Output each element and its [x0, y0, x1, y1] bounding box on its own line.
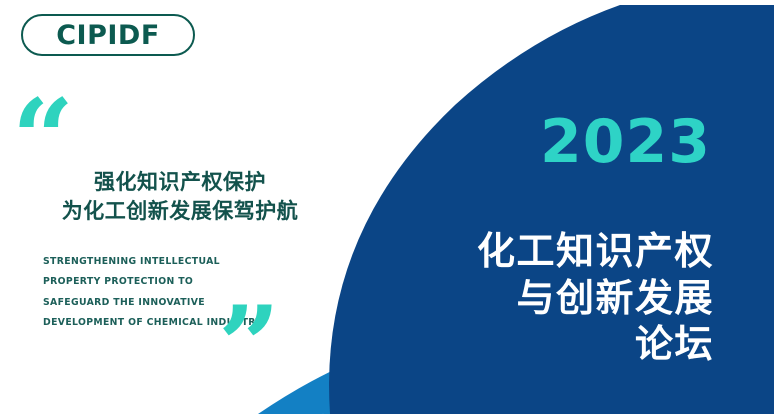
forum-banner: CIPIDF “ 强化知识产权保护 为化工创新发展保驾护航 STRENGTHEN… [0, 0, 779, 419]
forum-title-line-3: 论坛 [477, 321, 714, 368]
year-label: 2023 [540, 112, 711, 172]
quote-close-icon: ” [218, 292, 276, 400]
left-content-block: “ 强化知识产权保护 为化工创新发展保驾护航 STRENGTHENING INT… [0, 0, 360, 419]
headline-chinese: 强化知识产权保护 为化工创新发展保驾护航 [30, 168, 330, 226]
forum-title-line-1: 化工知识产权 [477, 228, 714, 275]
forum-title-line-2: 与创新发展 [477, 275, 714, 322]
headline-chinese-line-1: 强化知识产权保护 [30, 168, 330, 197]
headline-chinese-line-2: 为化工创新发展保驾护航 [30, 197, 330, 226]
headline-english-line-1: STRENGTHENING INTELLECTUAL [43, 252, 303, 272]
right-content-block: 2023 化工知识产权 与创新发展 论坛 [411, 0, 751, 419]
forum-title: 化工知识产权 与创新发展 论坛 [477, 228, 714, 368]
